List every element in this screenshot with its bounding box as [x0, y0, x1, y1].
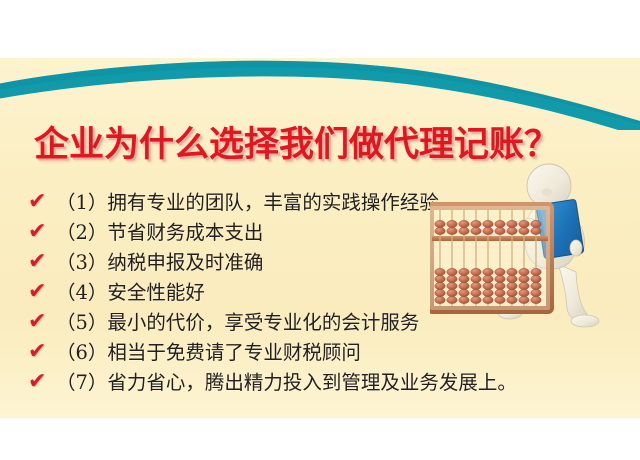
check-icon: ✔ [28, 371, 56, 393]
check-icon: ✔ [28, 251, 56, 273]
list-item-label: （5）最小的代价，享受专业化的会计服务 [56, 310, 419, 336]
poster-canvas: 企业为什么选择我们做代理记账？ ✔ （1）拥有专业的团队，丰富的实践操作经验 ✔… [0, 0, 640, 460]
list-item-label: （7）省力省心，腾出精力投入到管理及业务发展上。 [56, 370, 517, 396]
check-icon: ✔ [28, 191, 56, 213]
abacus-with-figure-illustration [430, 160, 636, 340]
list-item: ✔ （6）相当于免费请了专业财税顾问 [28, 338, 628, 368]
list-item: ✔ （7）省力省心，腾出精力投入到管理及业务发展上。 [28, 368, 628, 398]
abacus-group [430, 206, 550, 310]
list-item-label: （1）拥有专业的团队，丰富的实践操作经验 [56, 190, 439, 216]
check-icon: ✔ [28, 281, 56, 303]
list-item-label: （2）节省财务成本支出 [56, 220, 263, 246]
bottom-white-band [0, 418, 640, 460]
list-item-label: （6）相当于免费请了专业财税顾问 [56, 340, 361, 366]
list-item-label: （4）安全性能好 [56, 280, 205, 306]
check-icon: ✔ [28, 221, 56, 243]
check-icon: ✔ [28, 341, 56, 363]
list-item-label: （3）纳税申报及时准确 [56, 250, 263, 276]
check-icon: ✔ [28, 311, 56, 333]
teal-swoosh-decoration [0, 40, 640, 130]
